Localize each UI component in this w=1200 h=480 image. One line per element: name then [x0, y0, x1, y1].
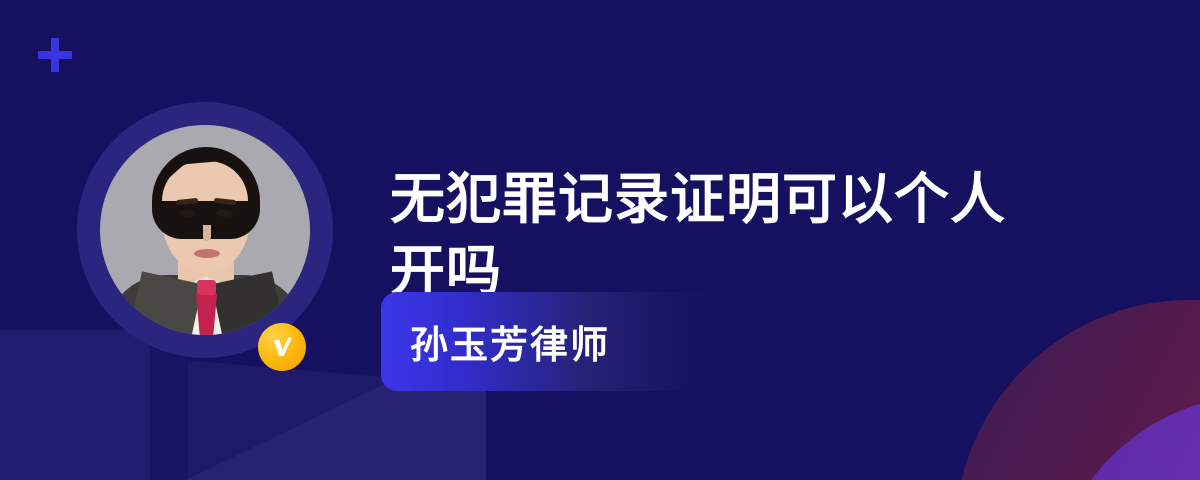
- decorative-arc-inner: [1050, 395, 1200, 480]
- portrait-tie-knot: [197, 280, 216, 295]
- plus-icon: [38, 38, 72, 72]
- decorative-arc-outer: [955, 300, 1200, 480]
- portrait-eye-right: [216, 210, 233, 217]
- decorative-divider-column: [150, 345, 188, 480]
- lawyer-name-button[interactable]: 孙玉芳律师: [381, 292, 716, 391]
- portrait-mouth: [194, 249, 220, 258]
- lawyer-qa-banner: 无犯罪记录证明可以个人 开吗 孙玉芳律师: [0, 0, 1200, 480]
- portrait-eye-left: [179, 210, 196, 217]
- page-title: 无犯罪记录证明可以个人 开吗: [390, 163, 1090, 307]
- portrait-nose: [203, 225, 211, 241]
- avatar-photo: [100, 125, 310, 335]
- plus-icon-vertical-bar: [51, 38, 59, 72]
- avatar[interactable]: [77, 102, 333, 358]
- verified-badge-icon: [258, 323, 306, 371]
